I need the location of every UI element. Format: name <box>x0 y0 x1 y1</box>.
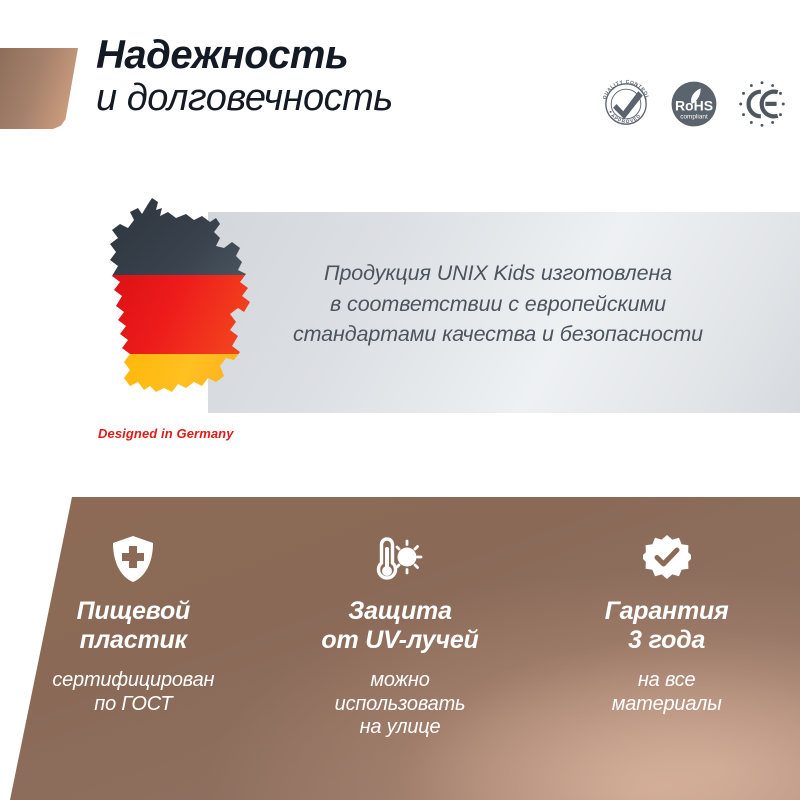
feature-subtitle-line-2: по ГОСТ <box>52 693 214 717</box>
ce-marking-badge <box>734 76 790 132</box>
thermometer-sun-uv-icon <box>375 533 425 585</box>
promo-banner: Надежность и долговечность QUALITY CONTR… <box>0 0 800 800</box>
feature-title-line-2: пластик <box>77 626 191 655</box>
feature-subtitle-line-1: сертифицирован <box>52 669 214 693</box>
feature-title: Пищевой пластик <box>77 597 191 655</box>
svg-text:RoHS: RoHS <box>675 98 713 114</box>
feature-food-grade-plastic: Пищевой пластик сертифицирован по ГОСТ <box>0 497 267 800</box>
quality-statement-line-2: в соответствии с европейскими <box>248 289 748 320</box>
feature-subtitle-line-2: использовать <box>335 693 466 717</box>
page-title: Надежность и долговечность <box>96 34 566 119</box>
brown-corner-accent <box>0 48 78 129</box>
feature-title-line-2: от UV-лучей <box>321 626 478 655</box>
certification-badges: QUALITY CONTROL APPROVED RoHS compliant <box>598 76 790 132</box>
svg-text:QUALITY CONTROL: QUALITY CONTROL <box>602 79 650 100</box>
feature-warranty: Гарантия 3 года на все материалы <box>533 497 800 800</box>
feature-title-line-1: Защита <box>321 597 478 626</box>
features-list: Пищевой пластик сертифицирован по ГОСТ <box>0 497 800 800</box>
quality-statement-text: Продукция UNIX Kids изготовлена в соотве… <box>248 258 748 350</box>
feature-subtitle: можно использовать на улице <box>335 669 466 740</box>
quality-control-approved-badge: QUALITY CONTROL APPROVED <box>598 76 654 132</box>
page-title-line-1: Надежность <box>96 34 566 76</box>
quality-statement-line-3: стандартами качества и безопасности <box>248 319 748 350</box>
feature-subtitle-line-3: на улице <box>335 716 466 740</box>
svg-text:compliant: compliant <box>680 114 708 121</box>
feature-title: Гарантия 3 года <box>605 597 729 655</box>
feature-subtitle: на все материалы <box>612 669 722 716</box>
rohs-compliant-badge: RoHS compliant <box>666 76 722 132</box>
feature-uv-protection: Защита от UV-лучей можно использовать на… <box>267 497 534 800</box>
quality-statement-line-1: Продукция UNIX Kids изготовлена <box>248 258 748 289</box>
feature-title-line-2: 3 года <box>605 626 729 655</box>
starburst-check-guarantee-icon <box>643 533 691 585</box>
feature-title-line-1: Гарантия <box>605 597 729 626</box>
feature-title-line-1: Пищевой <box>77 597 191 626</box>
page-title-line-2: и долговечность <box>96 78 566 118</box>
feature-subtitle-line-2: материалы <box>612 693 722 717</box>
designed-in-germany-label: Designed in Germany <box>98 426 234 441</box>
feature-title: Защита от UV-лучей <box>321 597 478 655</box>
shield-medical-cross-icon <box>112 533 154 585</box>
feature-subtitle-line-1: на все <box>612 669 722 693</box>
feature-subtitle-line-1: можно <box>335 669 466 693</box>
feature-subtitle: сертифицирован по ГОСТ <box>52 669 214 716</box>
